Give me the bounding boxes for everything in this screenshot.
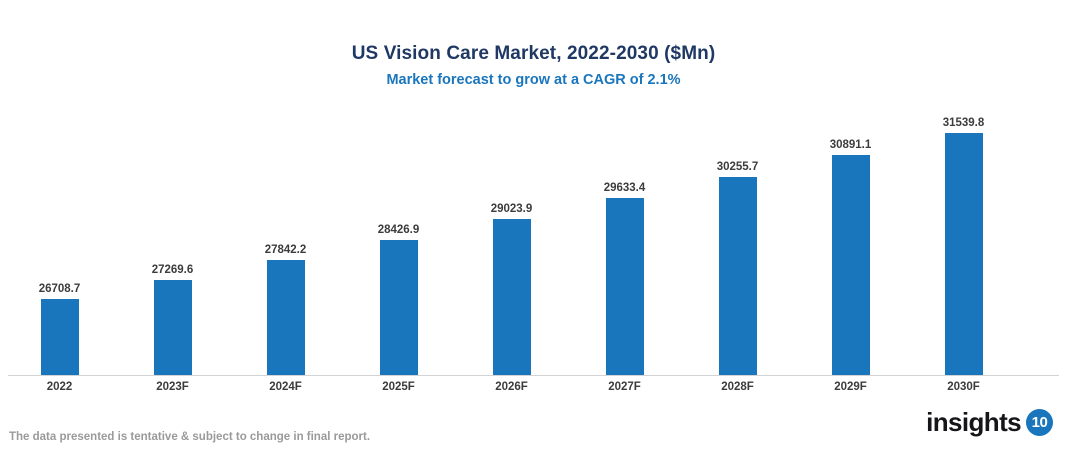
logo-wordmark: insights — [926, 408, 1021, 436]
bar[interactable] — [719, 177, 757, 375]
bar[interactable] — [267, 260, 305, 375]
bar-value-label: 30255.7 — [681, 161, 794, 174]
bar-slot: 31539.8 — [907, 110, 1020, 375]
bar-value-label: 27842.2 — [229, 244, 342, 257]
chart-subtitle: Market forecast to grow at a CAGR of 2.1… — [0, 71, 1067, 89]
bar-value-label: 29023.9 — [455, 203, 568, 216]
disclaimer-text: The data presented is tentative & subjec… — [9, 430, 370, 445]
x-axis-tick-label: 2024F — [229, 379, 342, 395]
bar-value-label: 31539.8 — [907, 117, 1020, 130]
x-axis-tick-label: 2028F — [681, 379, 794, 395]
bar[interactable] — [832, 155, 870, 375]
x-axis-tick-label: 2025F — [342, 379, 455, 395]
bar[interactable] — [493, 219, 531, 375]
bar-value-label: 27269.6 — [116, 264, 229, 277]
bar-slot: 29633.4 — [568, 110, 681, 375]
bar-slot: 30255.7 — [681, 110, 794, 375]
bar-value-label: 28426.9 — [342, 224, 455, 237]
logo-badge-icon: 10 — [1026, 409, 1053, 436]
x-axis-tick-label: 2027F — [568, 379, 681, 395]
bar[interactable] — [606, 198, 644, 375]
bar[interactable] — [380, 240, 418, 375]
bar-value-label: 30891.1 — [794, 139, 907, 152]
bar[interactable] — [154, 280, 192, 375]
x-axis-tick-label: 2030F — [907, 379, 1020, 395]
chart-canvas: US Vision Care Market, 2022-2030 ($Mn) M… — [0, 0, 1067, 454]
bar-slot: 27842.2 — [229, 110, 342, 375]
x-axis-tick-label: 2029F — [794, 379, 907, 395]
chart-title: US Vision Care Market, 2022-2030 ($Mn) — [0, 42, 1067, 66]
plot-area: 26708.727269.627842.228426.929023.929633… — [0, 110, 1067, 376]
x-axis-line — [8, 375, 1059, 376]
bar-slot: 30891.1 — [794, 110, 907, 375]
x-axis-tick-label: 2026F — [455, 379, 568, 395]
bar[interactable] — [945, 133, 983, 375]
bar-slot: 26708.7 — [3, 110, 116, 375]
x-axis-tick-label: 2023F — [116, 379, 229, 395]
bar-slot: 29023.9 — [455, 110, 568, 375]
bar-value-label: 26708.7 — [3, 283, 116, 296]
bar-slot: 27269.6 — [116, 110, 229, 375]
insights10-logo: insights 10 — [926, 408, 1053, 436]
x-axis-category-labels: 20222023F2024F2025F2026F2027F2028F2029F2… — [0, 379, 1067, 399]
bar-slot: 28426.9 — [342, 110, 455, 375]
x-axis-tick-label: 2022 — [3, 379, 116, 395]
bar-value-label: 29633.4 — [568, 182, 681, 195]
bar[interactable] — [41, 299, 79, 375]
chart-header: US Vision Care Market, 2022-2030 ($Mn) M… — [0, 42, 1067, 89]
